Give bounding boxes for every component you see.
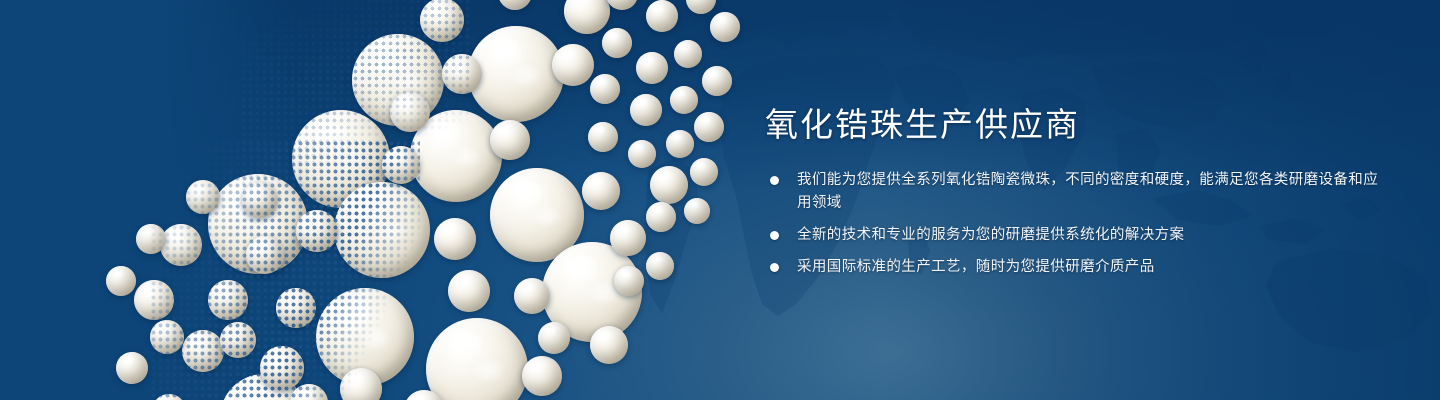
bullet-dot-icon — [770, 176, 779, 185]
list-item: 全新的技术和专业的服务为您的研磨提供系统化的解决方案 — [765, 224, 1385, 247]
list-item: 我们能为您提供全系列氧化锆陶瓷微珠，不同的密度和硬度，能满足您各类研磨设备和应用… — [765, 169, 1385, 215]
feature-list: 我们能为您提供全系列氧化锆陶瓷微珠，不同的密度和硬度，能满足您各类研磨设备和应用… — [765, 169, 1385, 279]
list-item: 采用国际标准的生产工艺，随时为您提供研磨介质产品 — [765, 256, 1385, 279]
list-item-text: 全新的技术和专业的服务为您的研磨提供系统化的解决方案 — [797, 227, 1184, 243]
list-item-text: 我们能为您提供全系列氧化锆陶瓷微珠，不同的密度和硬度，能满足您各类研磨设备和应用… — [797, 172, 1378, 211]
bullet-dot-icon — [770, 263, 779, 272]
bullet-dot-icon — [770, 231, 779, 240]
banner-headline: 氧化锆珠生产供应商 — [765, 105, 1385, 145]
banner-copy: 氧化锆珠生产供应商 我们能为您提供全系列氧化锆陶瓷微珠，不同的密度和硬度，能满足… — [765, 105, 1385, 279]
hero-banner: 氧化锆珠生产供应商 我们能为您提供全系列氧化锆陶瓷微珠，不同的密度和硬度，能满足… — [0, 0, 1440, 400]
list-item-text: 采用国际标准的生产工艺，随时为您提供研磨介质产品 — [797, 259, 1155, 275]
zirconia-beads-photo — [90, 0, 730, 400]
